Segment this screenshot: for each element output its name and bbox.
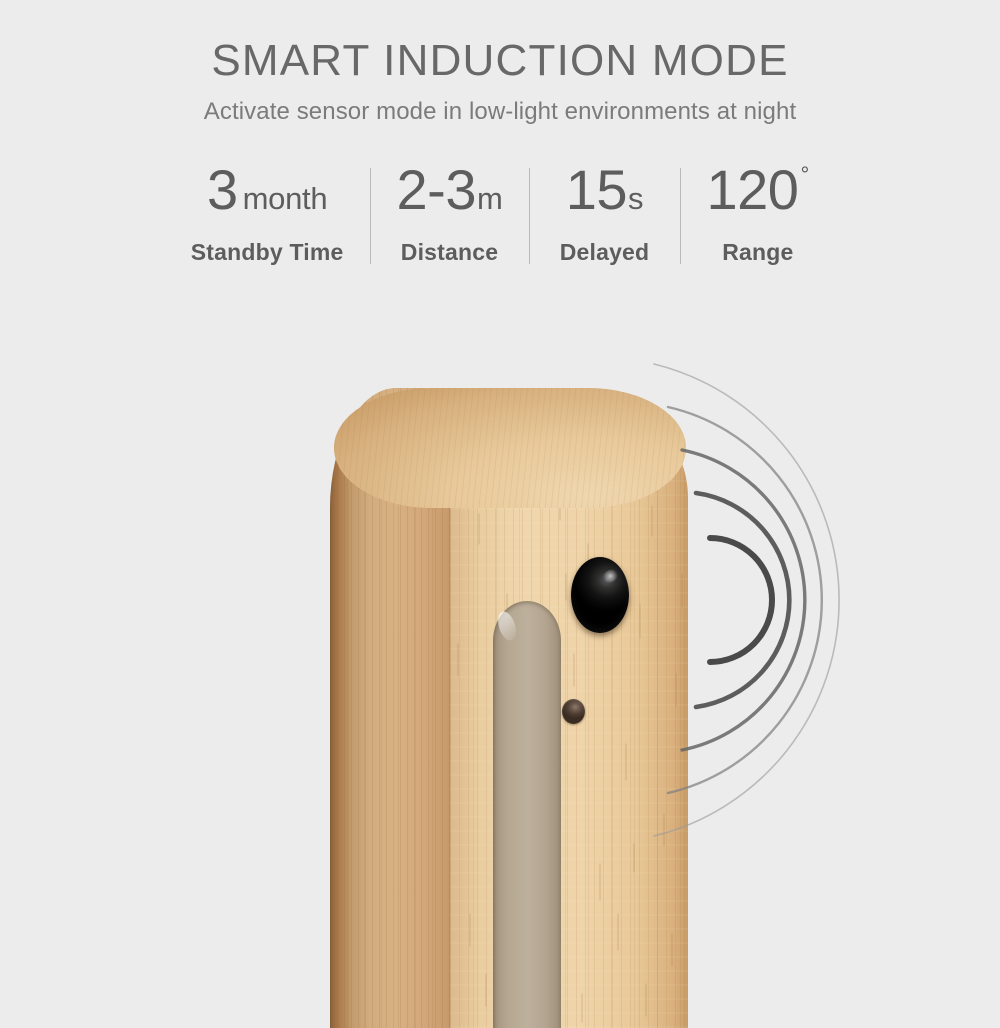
- wood-front-face: [450, 394, 688, 1028]
- wood-fleck-texture: [450, 394, 688, 1028]
- indicator-led: [562, 699, 585, 724]
- header-section: SMART INDUCTION MODE Activate sensor mod…: [0, 0, 1000, 126]
- spec-label: Delayed: [560, 239, 650, 266]
- wood-top-cap: [334, 388, 686, 508]
- signal-arc-5: [654, 364, 839, 836]
- signal-arc-3: [682, 450, 805, 750]
- spec-item-range: 120 ° Range: [681, 162, 836, 266]
- wood-grain-horizontal: [450, 394, 688, 1028]
- product-image: [0, 0, 1000, 1000]
- wood-grain-coarse: [450, 394, 688, 1028]
- spec-number: 3: [207, 162, 238, 218]
- spec-label: Range: [722, 239, 793, 266]
- spec-row: 3 month Standby Time 2-3 m Distance 15 s…: [0, 162, 1000, 266]
- signal-arc-4: [668, 407, 822, 793]
- spec-label: Standby Time: [191, 239, 344, 266]
- signal-arc-1: [710, 538, 772, 662]
- signal-arc-2: [696, 493, 789, 707]
- spec-unit: m: [477, 183, 503, 214]
- spec-number: 120: [707, 162, 799, 218]
- spec-value: 15 s: [566, 162, 644, 224]
- page-subtitle: Activate sensor mode in low-light enviro…: [0, 98, 1000, 126]
- degree-symbol-icon: °: [800, 164, 809, 186]
- wood-side-face: [330, 388, 462, 1028]
- spec-label: Distance: [401, 239, 498, 266]
- wood-grain-fine: [450, 394, 688, 1028]
- spec-item-distance: 2-3 m Distance: [371, 162, 529, 266]
- page-title: SMART INDUCTION MODE: [0, 38, 1000, 84]
- wood-base-tone: [450, 394, 688, 1028]
- spec-item-delayed: 15 s Delayed: [530, 162, 680, 266]
- diffuser-highlight: [495, 609, 519, 642]
- spec-number: 2-3: [397, 162, 476, 218]
- spec-unit: month: [243, 183, 328, 214]
- spec-value: 2-3 m: [397, 162, 503, 224]
- wooden-night-light-body: [330, 388, 688, 1028]
- sensor-rim-shadow: [450, 394, 511, 473]
- spec-value: 3 month: [207, 162, 327, 224]
- spec-item-standby-time: 3 month Standby Time: [165, 162, 370, 266]
- light-diffuser-panel: [493, 601, 561, 1028]
- pir-sensor-dome-icon: [571, 557, 629, 633]
- spec-number: 15: [566, 162, 627, 218]
- spec-unit: s: [628, 183, 643, 214]
- sensor-specular-highlight: [600, 567, 620, 585]
- spec-value: 120 °: [707, 162, 810, 224]
- motion-signal-waves: [670, 400, 930, 800]
